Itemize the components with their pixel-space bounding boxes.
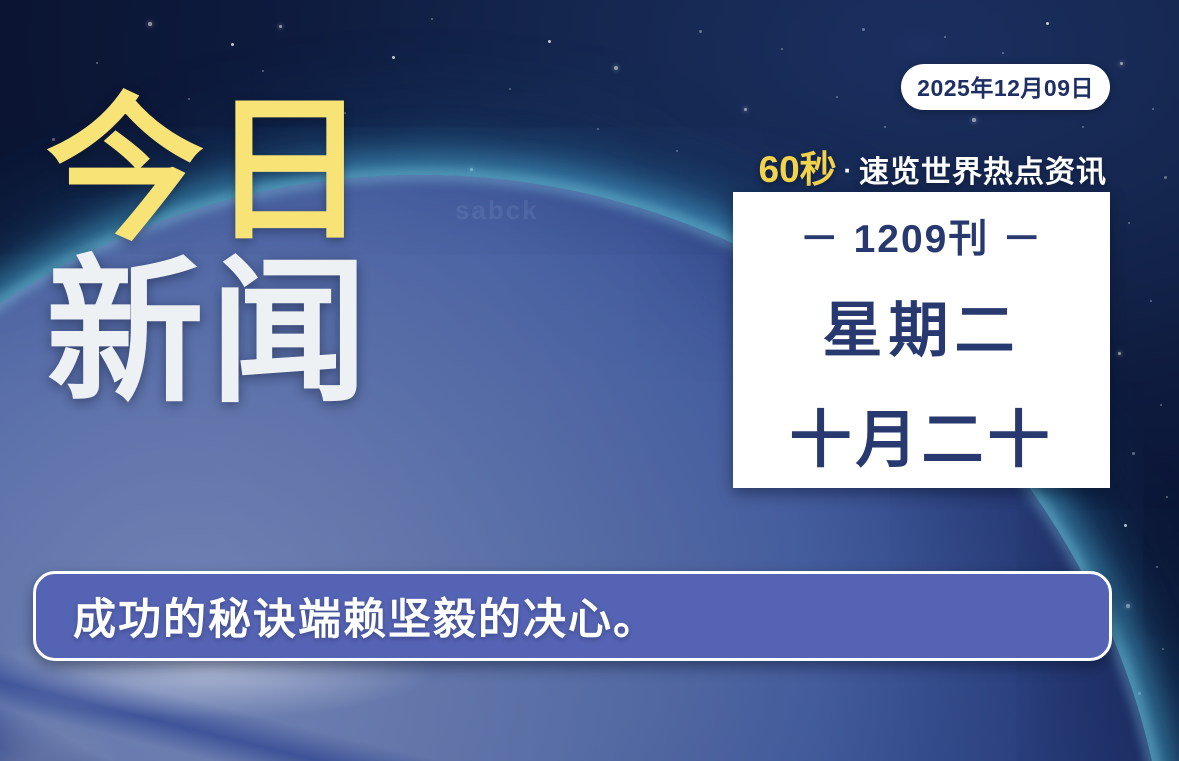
star-dot bbox=[1132, 452, 1135, 455]
star-dot bbox=[606, 330, 608, 332]
title-line-xinwen: 新闻 bbox=[46, 258, 374, 410]
star-dot bbox=[690, 372, 692, 374]
star-dot bbox=[836, 96, 838, 98]
star-dot bbox=[1162, 648, 1164, 650]
issue-number: － 1209刊 － bbox=[800, 208, 1043, 264]
quote-bar: 成功的秘诀端赖坚毅的决心。 bbox=[33, 571, 1112, 661]
star-dot bbox=[1150, 300, 1152, 302]
star-dot bbox=[828, 556, 830, 558]
star-dot bbox=[902, 690, 905, 693]
star-dot bbox=[944, 36, 946, 38]
star-dot bbox=[1020, 736, 1022, 738]
star-dot bbox=[548, 40, 551, 43]
star-dot bbox=[279, 25, 282, 28]
tagline-separator: · bbox=[844, 157, 852, 186]
star-dot bbox=[824, 700, 827, 703]
star-dot bbox=[886, 524, 889, 527]
star-dot bbox=[770, 524, 773, 527]
star-dot bbox=[1156, 566, 1158, 568]
page-title: 今日 新闻 bbox=[46, 96, 374, 409]
issue-info-card: － 1209刊 － 星期二 十月二十 bbox=[733, 192, 1110, 488]
star-dot bbox=[952, 540, 955, 543]
star-dot bbox=[566, 212, 569, 215]
star-dot bbox=[972, 118, 976, 122]
star-dot bbox=[614, 66, 618, 70]
lunar-date: 十月二十 bbox=[789, 389, 1053, 479]
star-dot bbox=[1128, 222, 1130, 224]
star-dot bbox=[862, 28, 865, 31]
star-dot bbox=[1066, 556, 1069, 559]
star-dot bbox=[699, 30, 702, 33]
date-badge: 2025年12月09日 bbox=[901, 64, 1110, 110]
star-dot bbox=[1152, 108, 1154, 110]
star-dot bbox=[744, 108, 747, 111]
star-dot bbox=[96, 62, 98, 64]
poster-canvas: sabck 今日 新闻 2025年12月09日 60秒 · 速览世界热点资讯 －… bbox=[0, 0, 1179, 761]
star-dot bbox=[700, 452, 702, 454]
star-dot bbox=[1060, 690, 1063, 693]
star-dot bbox=[662, 300, 665, 303]
star-dot bbox=[1096, 726, 1098, 728]
star-dot bbox=[1046, 22, 1049, 25]
title-line-jinri: 今日 bbox=[46, 96, 374, 248]
quote-text: 成功的秘诀端赖坚毅的决心。 bbox=[36, 585, 658, 647]
star-dot bbox=[231, 43, 234, 46]
star-dot bbox=[866, 732, 868, 734]
star-dot bbox=[1082, 126, 1084, 128]
star-dot bbox=[392, 56, 395, 59]
star-dot bbox=[1118, 352, 1121, 355]
star-dot bbox=[1160, 404, 1162, 406]
star-dot bbox=[1120, 62, 1123, 65]
star-dot bbox=[431, 18, 433, 20]
star-dot bbox=[1164, 176, 1167, 179]
star-dot bbox=[676, 150, 678, 152]
star-dot bbox=[262, 70, 264, 72]
star-dot bbox=[148, 22, 152, 26]
star-dot bbox=[988, 688, 991, 691]
star-dot bbox=[1124, 524, 1127, 527]
star-dot bbox=[648, 224, 651, 227]
star-dot bbox=[597, 128, 599, 130]
star-dot bbox=[706, 516, 708, 518]
star-dot bbox=[1138, 692, 1141, 695]
star-dot bbox=[509, 88, 511, 90]
star-dot bbox=[1126, 604, 1130, 608]
tagline: 60秒 · 速览世界热点资讯 bbox=[759, 139, 1107, 193]
weekday-label: 星期二 bbox=[823, 282, 1021, 369]
star-dot bbox=[470, 168, 473, 171]
star-dot bbox=[884, 126, 886, 128]
tagline-seconds: 60秒 bbox=[759, 139, 837, 193]
star-dot bbox=[781, 48, 783, 50]
background-watermark: sabck bbox=[455, 195, 539, 226]
star-dot bbox=[636, 430, 639, 433]
tagline-description: 速览世界热点资讯 bbox=[859, 147, 1107, 191]
star-dot bbox=[946, 724, 948, 726]
star-dot bbox=[1002, 52, 1004, 54]
star-dot bbox=[784, 744, 786, 746]
star-dot bbox=[1166, 496, 1168, 498]
star-dot bbox=[722, 262, 724, 264]
star-dot bbox=[1012, 512, 1014, 514]
